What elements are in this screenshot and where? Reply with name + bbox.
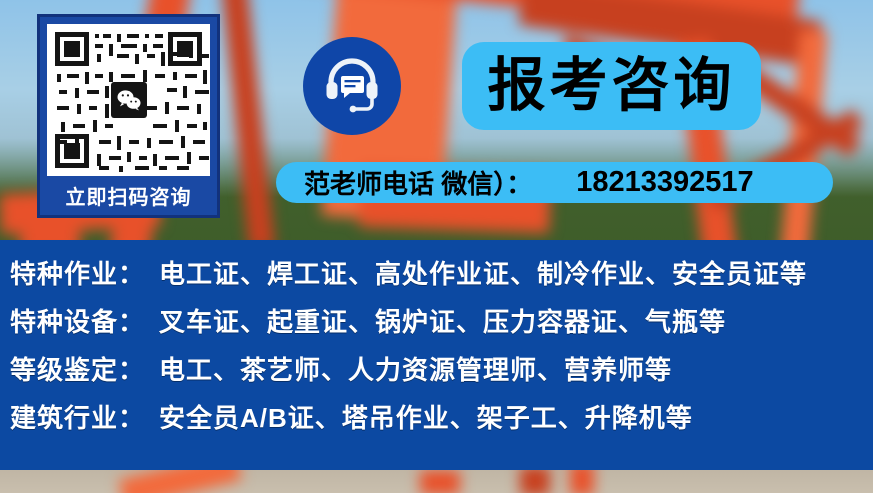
- category-items: 电工、茶艺师、人力资源管理师、营养师等: [159, 350, 672, 387]
- category-row-special-operations: 特种作业： 电工证、焊工证、高处作业证、制冷作业、安全员证等: [0, 254, 873, 302]
- page-title: 报考咨询: [487, 57, 735, 115]
- category-items: 电工证、焊工证、高处作业证、制冷作业、安全员证等: [159, 254, 807, 291]
- certificate-category-band: 特种作业： 电工证、焊工证、高处作业证、制冷作业、安全员证等 特种设备： 叉车证…: [0, 240, 873, 470]
- qr-caption: 立即扫码咨询: [47, 176, 210, 220]
- wechat-icon: [111, 82, 147, 118]
- category-items: 安全员A/B证、塔吊作业、架子工、升降机等: [159, 398, 693, 435]
- title-pill: 报考咨询: [462, 42, 761, 130]
- category-row-special-equipment: 特种设备： 叉车证、起重证、锅炉证、压力容器证、气瓶等: [0, 302, 873, 350]
- headset-chat-icon: [303, 37, 401, 135]
- category-row-grade-assessment: 等级鉴定： 电工、茶艺师、人力资源管理师、营养师等: [0, 350, 873, 398]
- category-name: 等级鉴定：: [10, 350, 145, 387]
- category-name: 建筑行业：: [10, 398, 145, 435]
- contact-pill[interactable]: 范老师电话 微信）： 18213392517: [276, 162, 833, 203]
- category-name: 特种设备：: [10, 302, 145, 339]
- category-items: 叉车证、起重证、锅炉证、压力容器证、气瓶等: [159, 302, 726, 339]
- qr-card[interactable]: 立即扫码咨询: [37, 14, 220, 218]
- contact-phone[interactable]: 18213392517: [576, 166, 753, 199]
- category-name: 特种作业：: [10, 254, 145, 291]
- promo-poster: 立即扫码咨询 报考咨询 范老师电话 微信）： 18213392517 特种作业：…: [0, 0, 873, 493]
- qr-code-icon[interactable]: [47, 24, 210, 176]
- contact-label: 范老师电话 微信）：: [304, 164, 532, 201]
- category-row-construction-industry: 建筑行业： 安全员A/B证、塔吊作业、架子工、升降机等: [0, 398, 873, 446]
